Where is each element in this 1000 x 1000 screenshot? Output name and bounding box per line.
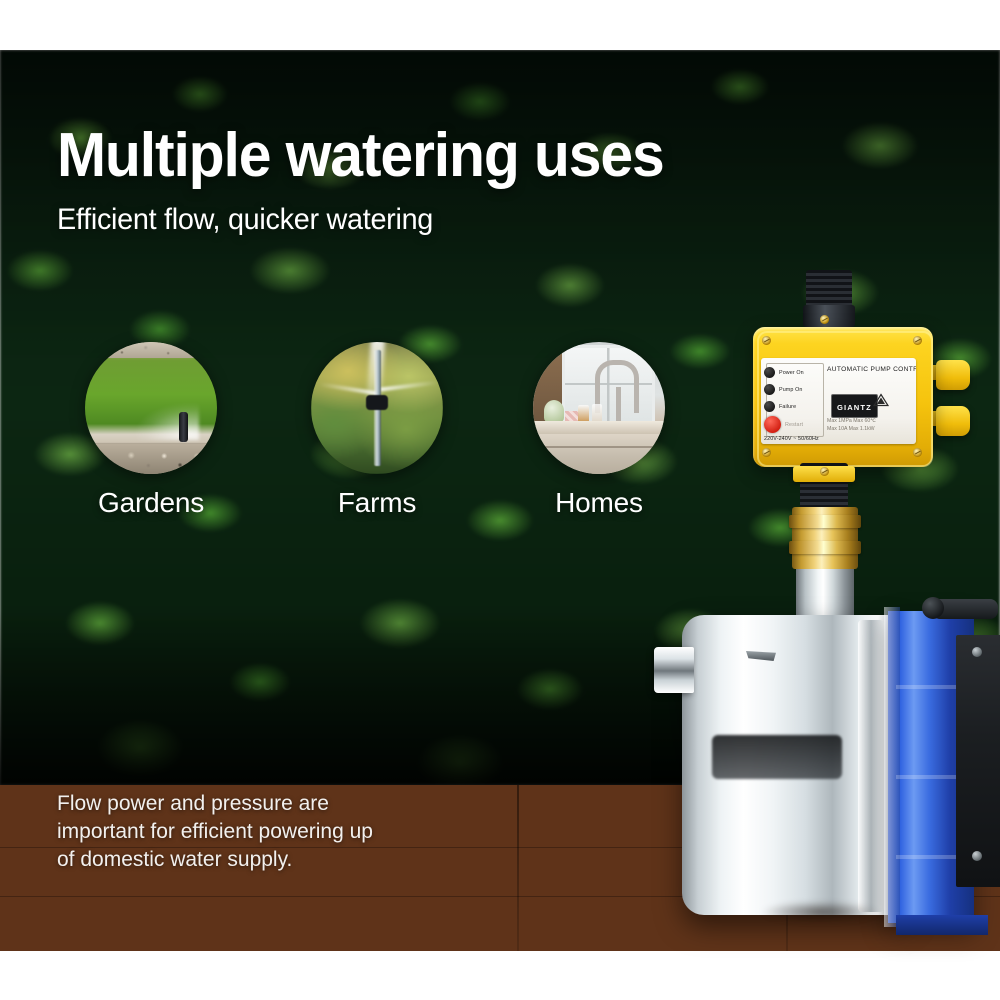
controller-screw (820, 315, 829, 324)
motor-flange (884, 607, 900, 927)
brass-hex-band (789, 541, 861, 554)
led-pump-on-icon (764, 384, 775, 395)
indicator-label: Pump On (779, 387, 802, 393)
indicator-failure: Failure (764, 401, 796, 412)
gardens-photo (85, 342, 217, 474)
controller-screw (762, 336, 771, 345)
homes-photo (533, 342, 665, 474)
cover-screw (972, 851, 982, 861)
impact-sprinkler-icon (311, 342, 443, 474)
brand-name: GIANTZ (837, 403, 872, 412)
indicator-power-on: Power On (764, 367, 804, 378)
deck-wet-spot (760, 901, 880, 923)
indicator-pump-on: Pump On (764, 384, 802, 395)
controller-spec-1: Max 1MPa Max 60℃ (827, 418, 876, 426)
indicator-label: Power On (779, 370, 804, 376)
compliance-triangle-icon (873, 393, 889, 407)
brand-logo: GIANTZ (831, 394, 878, 418)
bracket-screw (820, 467, 829, 476)
cover-screw (972, 647, 982, 657)
motor-rib (896, 775, 958, 779)
use-case-label: Homes (533, 488, 665, 518)
motor-rib (896, 855, 958, 859)
use-case-label: Gardens (85, 488, 217, 518)
brass-hex-band (789, 515, 861, 528)
use-case-gardens: Gardens (85, 342, 217, 518)
motor-base-foot (896, 915, 988, 935)
product-marketing-banner: Multiple watering uses Efficient flow, q… (0, 0, 1000, 1000)
body-copy: Flow power and pressure are important fo… (57, 790, 387, 874)
motor-terminal-cover (956, 635, 1000, 887)
top-nipple-collar (803, 305, 855, 327)
motor-rib (896, 685, 958, 689)
led-failure-icon (764, 401, 775, 412)
kitchen-sink-icon (533, 342, 665, 474)
controller-label: Power On Pump On Failure Restart AUTOMAT… (761, 358, 916, 444)
cable-gland-upper (936, 360, 970, 390)
indicator-label: Failure (779, 404, 796, 410)
restart-button[interactable]: Restart (764, 416, 803, 433)
handle-end-cap (922, 597, 944, 619)
chrome-discharge-riser (796, 569, 854, 617)
controller-screw (762, 448, 771, 457)
controller-spec-2: Max 10A Max 1.1kW (827, 426, 875, 434)
suction-inlet-port (654, 647, 694, 693)
page-subtitle: Efficient flow, quicker watering (57, 203, 433, 237)
restart-button-icon[interactable] (764, 416, 781, 433)
top-threaded-nipple (806, 270, 852, 308)
use-case-farms: Farms (311, 342, 443, 518)
deck-seam (517, 785, 519, 951)
housing-seam-ring (858, 620, 884, 912)
housing-reflection-band (712, 735, 842, 779)
cable-gland-lower (936, 406, 970, 436)
farms-photo (311, 342, 443, 474)
led-power-on-icon (764, 367, 775, 378)
water-pump-product: Power On Pump On Failure Restart AUTOMAT… (660, 215, 1000, 915)
page-title: Multiple watering uses (57, 125, 664, 187)
controller-voltage: 220V-240V ~ 50/60Hz (764, 436, 819, 442)
use-case-label: Farms (311, 488, 443, 518)
controller-screw (913, 336, 922, 345)
lawn-sprinkler-icon (85, 342, 217, 474)
controller-title: AUTOMATIC PUMP CONTROL (827, 366, 916, 373)
controller-screw (913, 448, 922, 457)
restart-label: Restart (785, 422, 803, 428)
use-case-homes: Homes (533, 342, 665, 518)
